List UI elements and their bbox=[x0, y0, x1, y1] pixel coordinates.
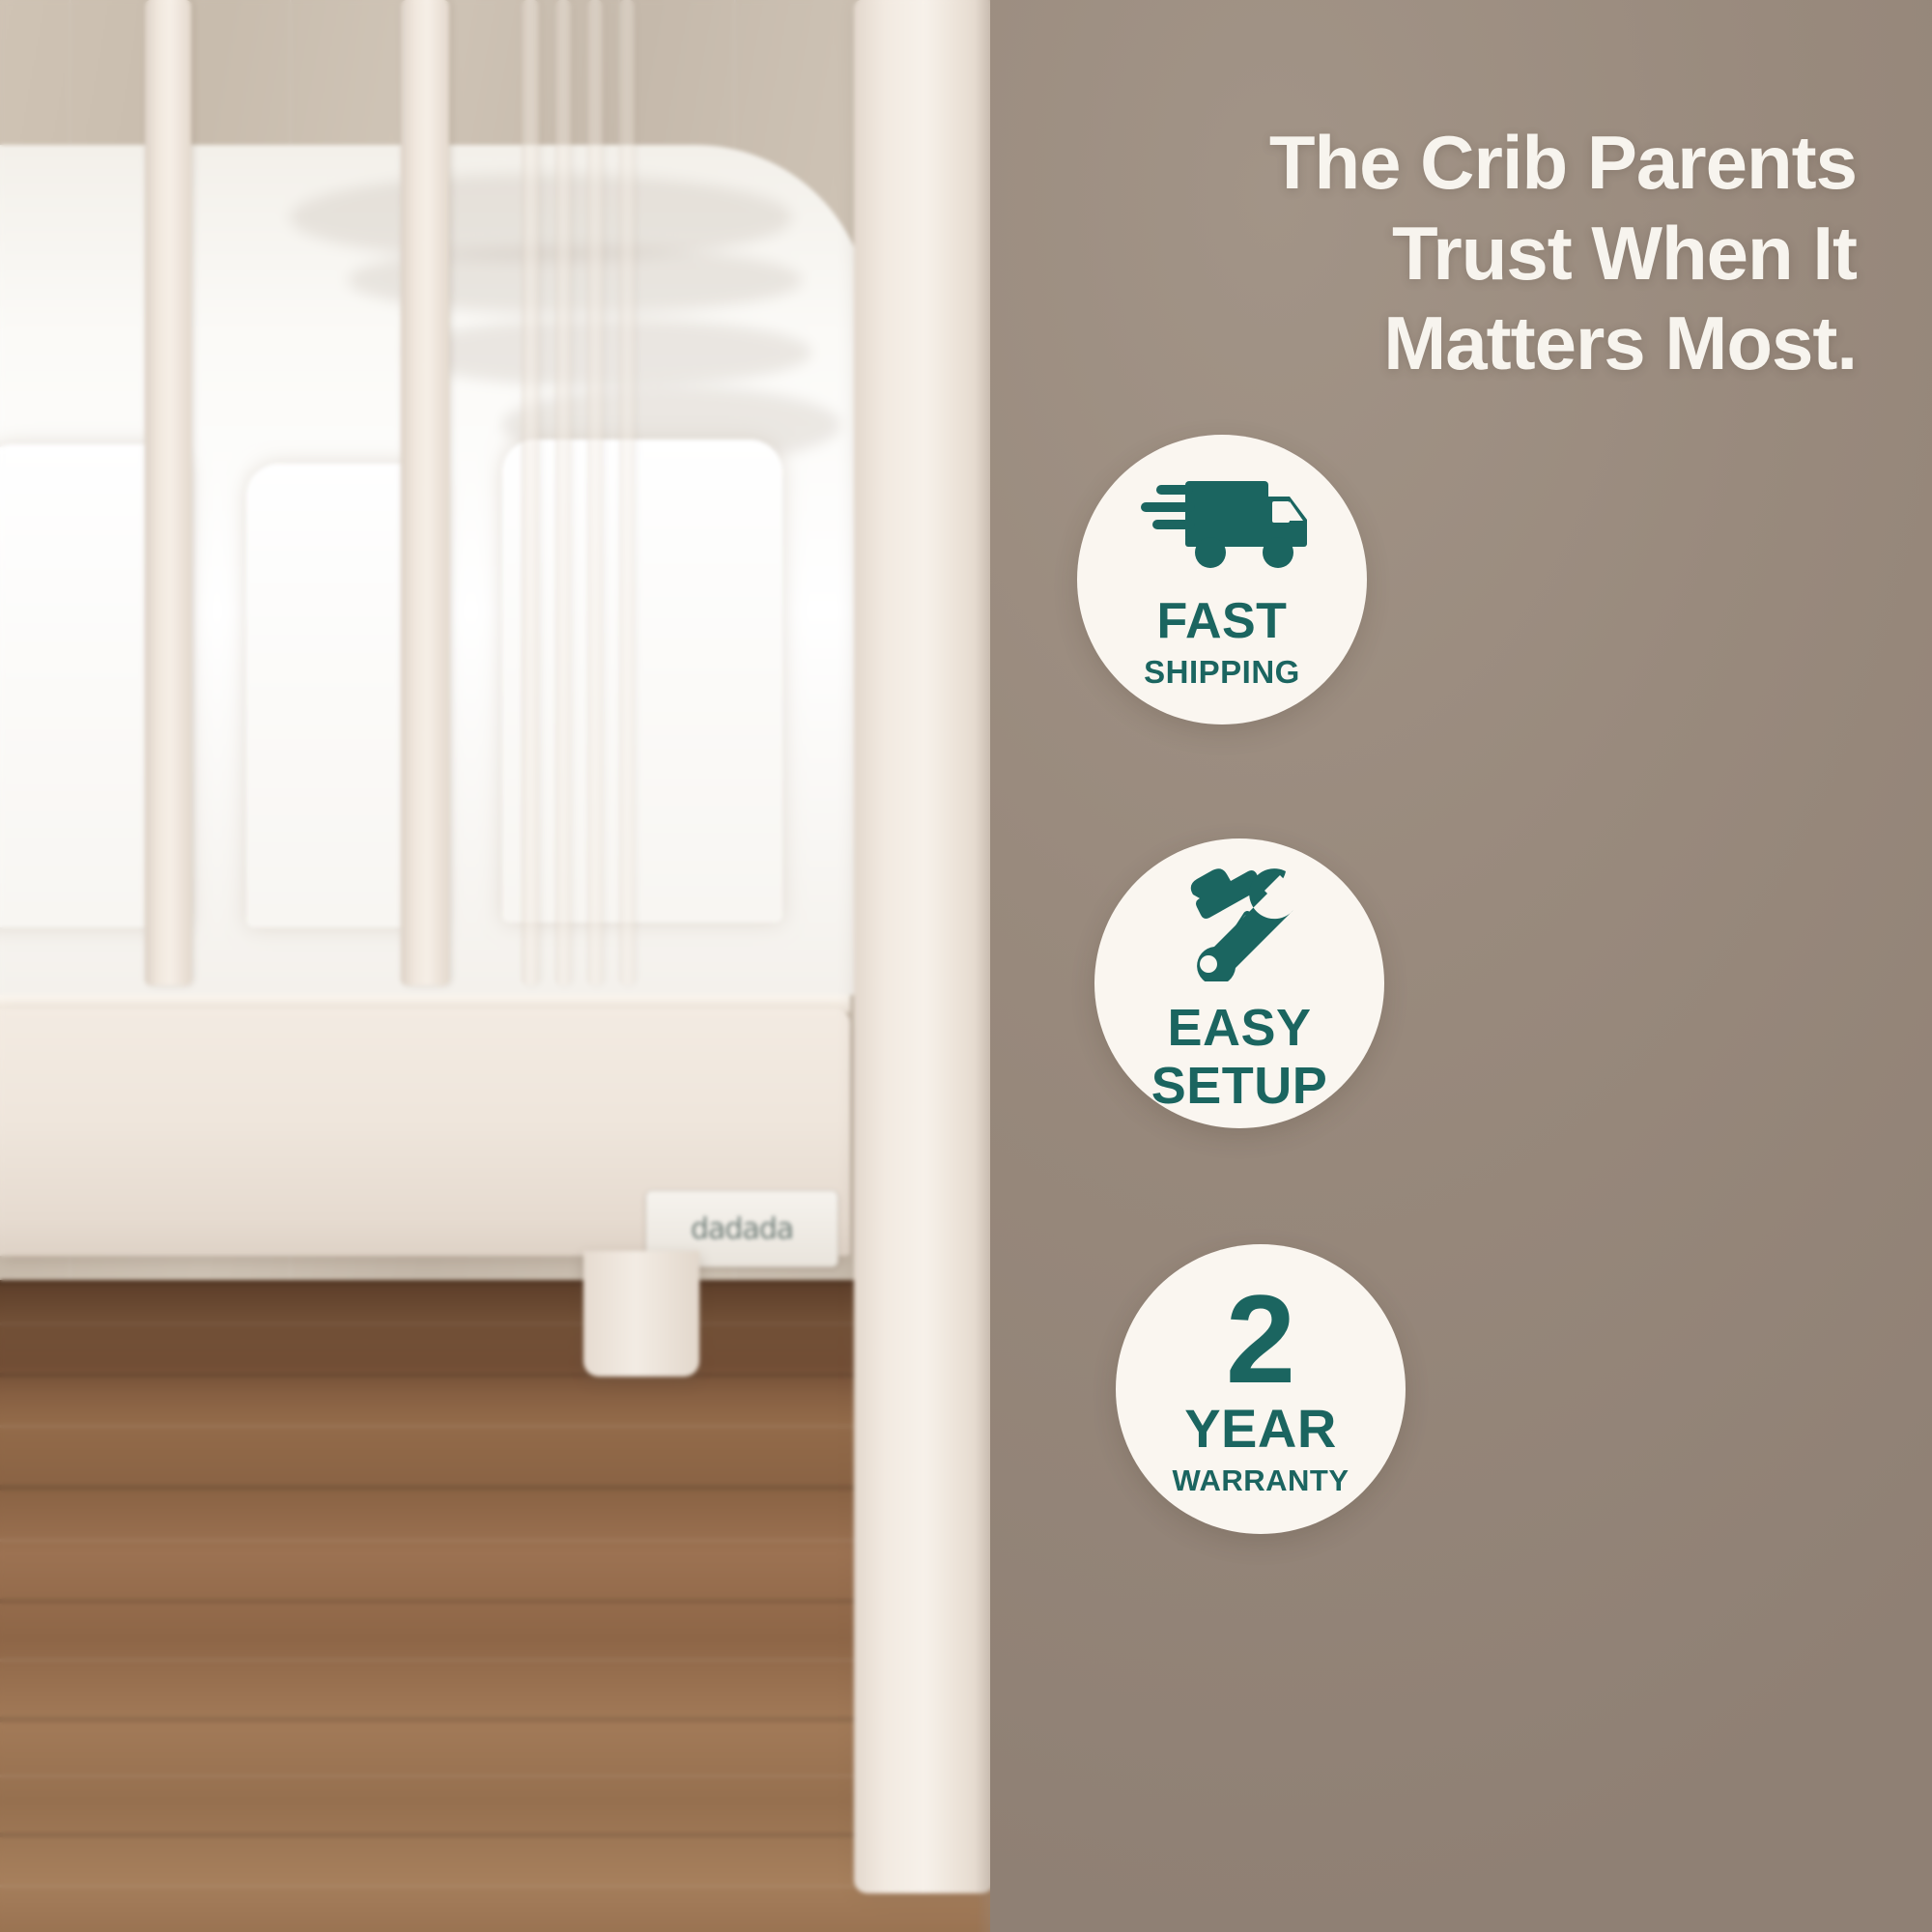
crib-corner-post bbox=[854, 0, 995, 1893]
delivery-truck-icon bbox=[1135, 471, 1309, 582]
badge-label-primary: FAST bbox=[1157, 596, 1288, 646]
crib-slat bbox=[401, 0, 449, 985]
product-photo: dadada bbox=[0, 0, 1024, 1932]
badge-warranty[interactable]: 2 YEAR WARRANTY bbox=[1116, 1244, 1406, 1534]
badge-label-secondary: SHIPPING bbox=[1144, 656, 1300, 688]
crib-slat bbox=[619, 0, 635, 985]
badge-label-primary: EASY bbox=[1167, 1002, 1311, 1054]
brand-logo-text: dadada bbox=[691, 1212, 793, 1246]
badge-warranty-number: 2 bbox=[1226, 1283, 1295, 1396]
page-title: The Crib Parents Trust When It Matters M… bbox=[1045, 118, 1857, 389]
badge-easy-setup[interactable]: EASY SETUP bbox=[1094, 838, 1384, 1128]
headline-line-3: Matters Most. bbox=[1045, 298, 1857, 389]
crib-slat bbox=[145, 0, 191, 985]
promo-canvas: dadada The Crib Parents Trust When It Ma… bbox=[0, 0, 1932, 1932]
hammer-wrench-icon bbox=[1172, 856, 1307, 986]
content-panel: The Crib Parents Trust When It Matters M… bbox=[990, 0, 1932, 1932]
headline-line-1: The Crib Parents bbox=[1045, 118, 1857, 209]
crib-slat bbox=[522, 0, 539, 985]
badge-label-secondary: SETUP bbox=[1151, 1060, 1328, 1112]
crib-slat bbox=[587, 0, 603, 985]
crib-slat bbox=[555, 0, 571, 985]
badge-label-primary: YEAR bbox=[1184, 1402, 1337, 1456]
headline-line-2: Trust When It bbox=[1045, 209, 1857, 299]
badge-label-secondary: WARRANTY bbox=[1172, 1465, 1349, 1495]
badge-fast-shipping[interactable]: FAST SHIPPING bbox=[1077, 435, 1367, 724]
crib-stub-leg bbox=[583, 1251, 699, 1377]
